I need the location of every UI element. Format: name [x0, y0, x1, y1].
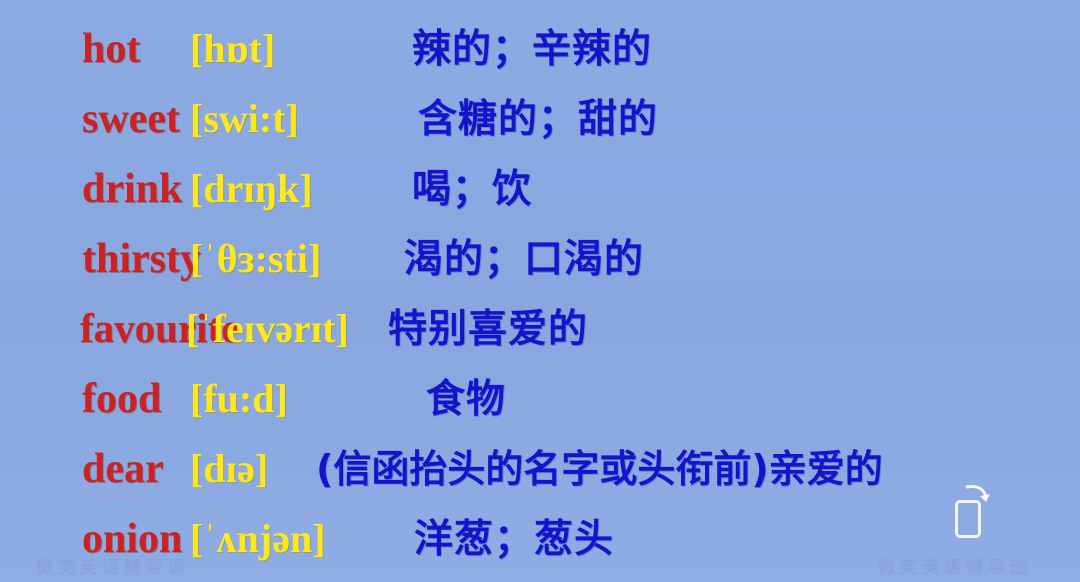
phonetic-transcription: [ˈθɜ:sti]	[190, 235, 370, 282]
english-word: drink	[0, 165, 190, 213]
phone-outline-icon	[955, 500, 981, 538]
phonetic-transcription: [drɪŋk]	[190, 165, 370, 212]
english-word: hot	[0, 25, 190, 73]
vocab-row-hot: hot [hɒt] 辣的；辛辣的	[0, 18, 1080, 88]
chinese-meaning: 食物	[370, 368, 1080, 424]
vocab-row-sweet: sweet [swi:t] 含糖的；甜的	[0, 88, 1080, 158]
phonetic-transcription: [swi:t]	[190, 95, 370, 142]
vocab-row-favourite: favourite [ˈfeɪvərɪt] 特别喜爱的	[0, 298, 1080, 368]
watermark-left: 微笑英语辅导课	[36, 553, 190, 578]
chinese-meaning: 特别喜爱的	[384, 298, 1080, 354]
phonetic-transcription: [ˈʌnjən]	[190, 515, 370, 562]
vocab-row-food: food [fu:d] 食物	[0, 368, 1080, 438]
phonetic-transcription: [dɪə]	[190, 445, 316, 492]
english-word: favourite	[0, 304, 186, 352]
phonetic-transcription: [ˈfeɪvərɪt]	[186, 305, 384, 352]
english-word: sweet	[0, 95, 190, 143]
english-word: food	[0, 375, 190, 423]
phonetic-transcription: [hɒt]	[190, 25, 370, 72]
vocab-row-thirsty: thirsty [ˈθɜ:sti] 渴的；口渴的	[0, 228, 1080, 298]
watermark-right: 微笑英语辅导班	[878, 553, 1032, 578]
slide-canvas: hot [hɒt] 辣的；辛辣的 sweet [swi:t] 含糖的；甜的 dr…	[0, 0, 1080, 582]
chinese-meaning: 辣的；辛辣的	[370, 18, 1080, 74]
curved-arrow-icon	[965, 483, 993, 505]
rotate-screen-icon[interactable]	[955, 492, 989, 540]
english-word: thirsty	[0, 235, 190, 283]
chinese-meaning: 含糖的；甜的	[370, 88, 1080, 144]
vocab-row-drink: drink [drɪŋk] 喝；饮	[0, 158, 1080, 228]
chinese-meaning: 渴的；口渴的	[370, 228, 1080, 284]
vocab-row-dear: dear [dɪə] (信函抬头的名字或头衔前)亲爱的	[0, 438, 1080, 508]
chinese-meaning: 喝；饮	[370, 158, 1080, 214]
vocabulary-list: hot [hɒt] 辣的；辛辣的 sweet [swi:t] 含糖的；甜的 dr…	[0, 18, 1080, 578]
english-word: dear	[0, 445, 190, 493]
phonetic-transcription: [fu:d]	[190, 375, 370, 422]
